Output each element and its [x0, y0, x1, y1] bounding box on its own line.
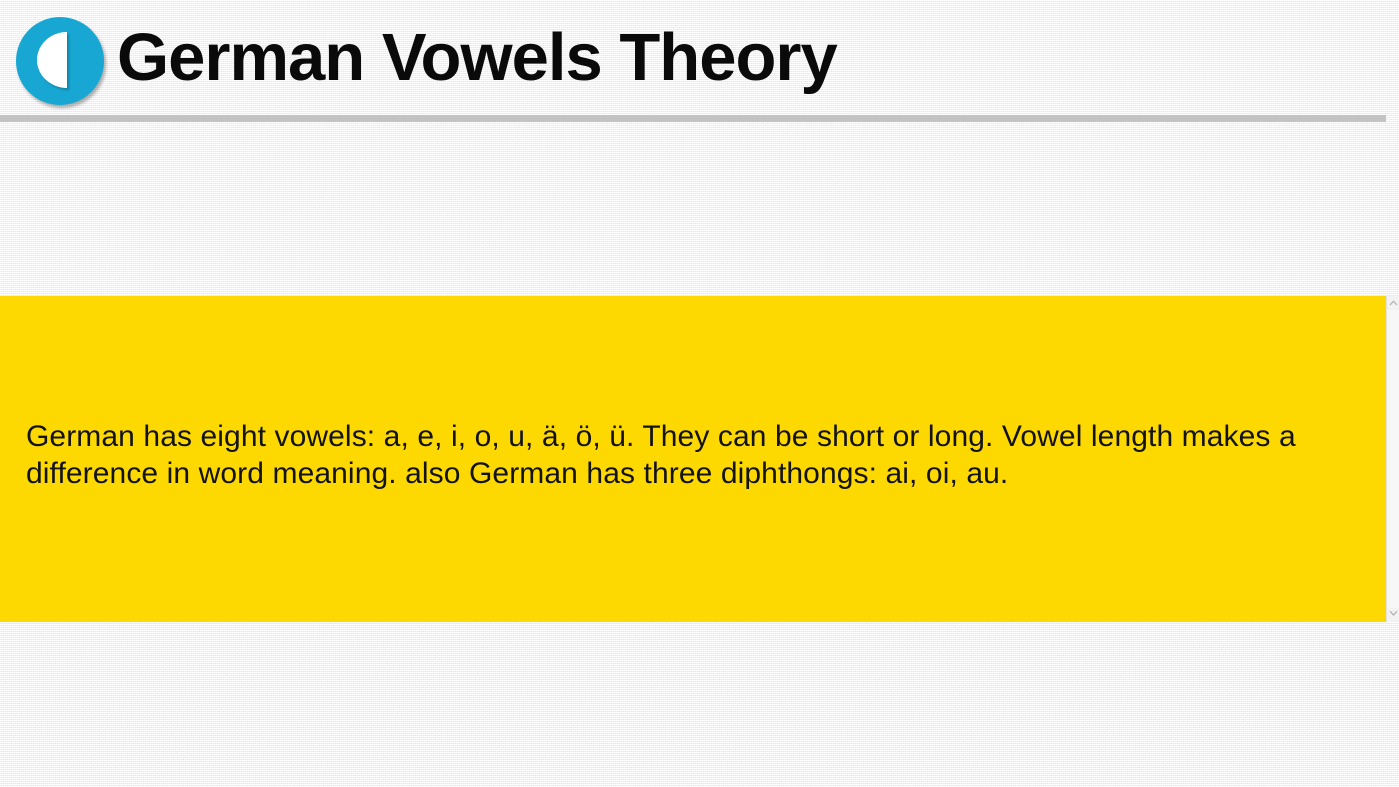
slide-canvas: German Vowels Theory German has eight vo…	[0, 0, 1399, 787]
content-scrollbar[interactable]	[1386, 296, 1399, 622]
scrollbar-track[interactable]	[1387, 310, 1399, 608]
content-body-text: German has eight vowels: a, e, i, o, u, …	[26, 418, 1373, 492]
slide-header: German Vowels Theory	[0, 0, 1399, 116]
page-title: German Vowels Theory	[117, 6, 837, 110]
header-divider	[0, 115, 1386, 122]
chevron-up-icon[interactable]	[1387, 296, 1399, 310]
half-moon-circle-icon	[14, 15, 106, 107]
content-panel: German has eight vowels: a, e, i, o, u, …	[0, 296, 1386, 622]
chevron-down-icon[interactable]	[1387, 606, 1399, 620]
